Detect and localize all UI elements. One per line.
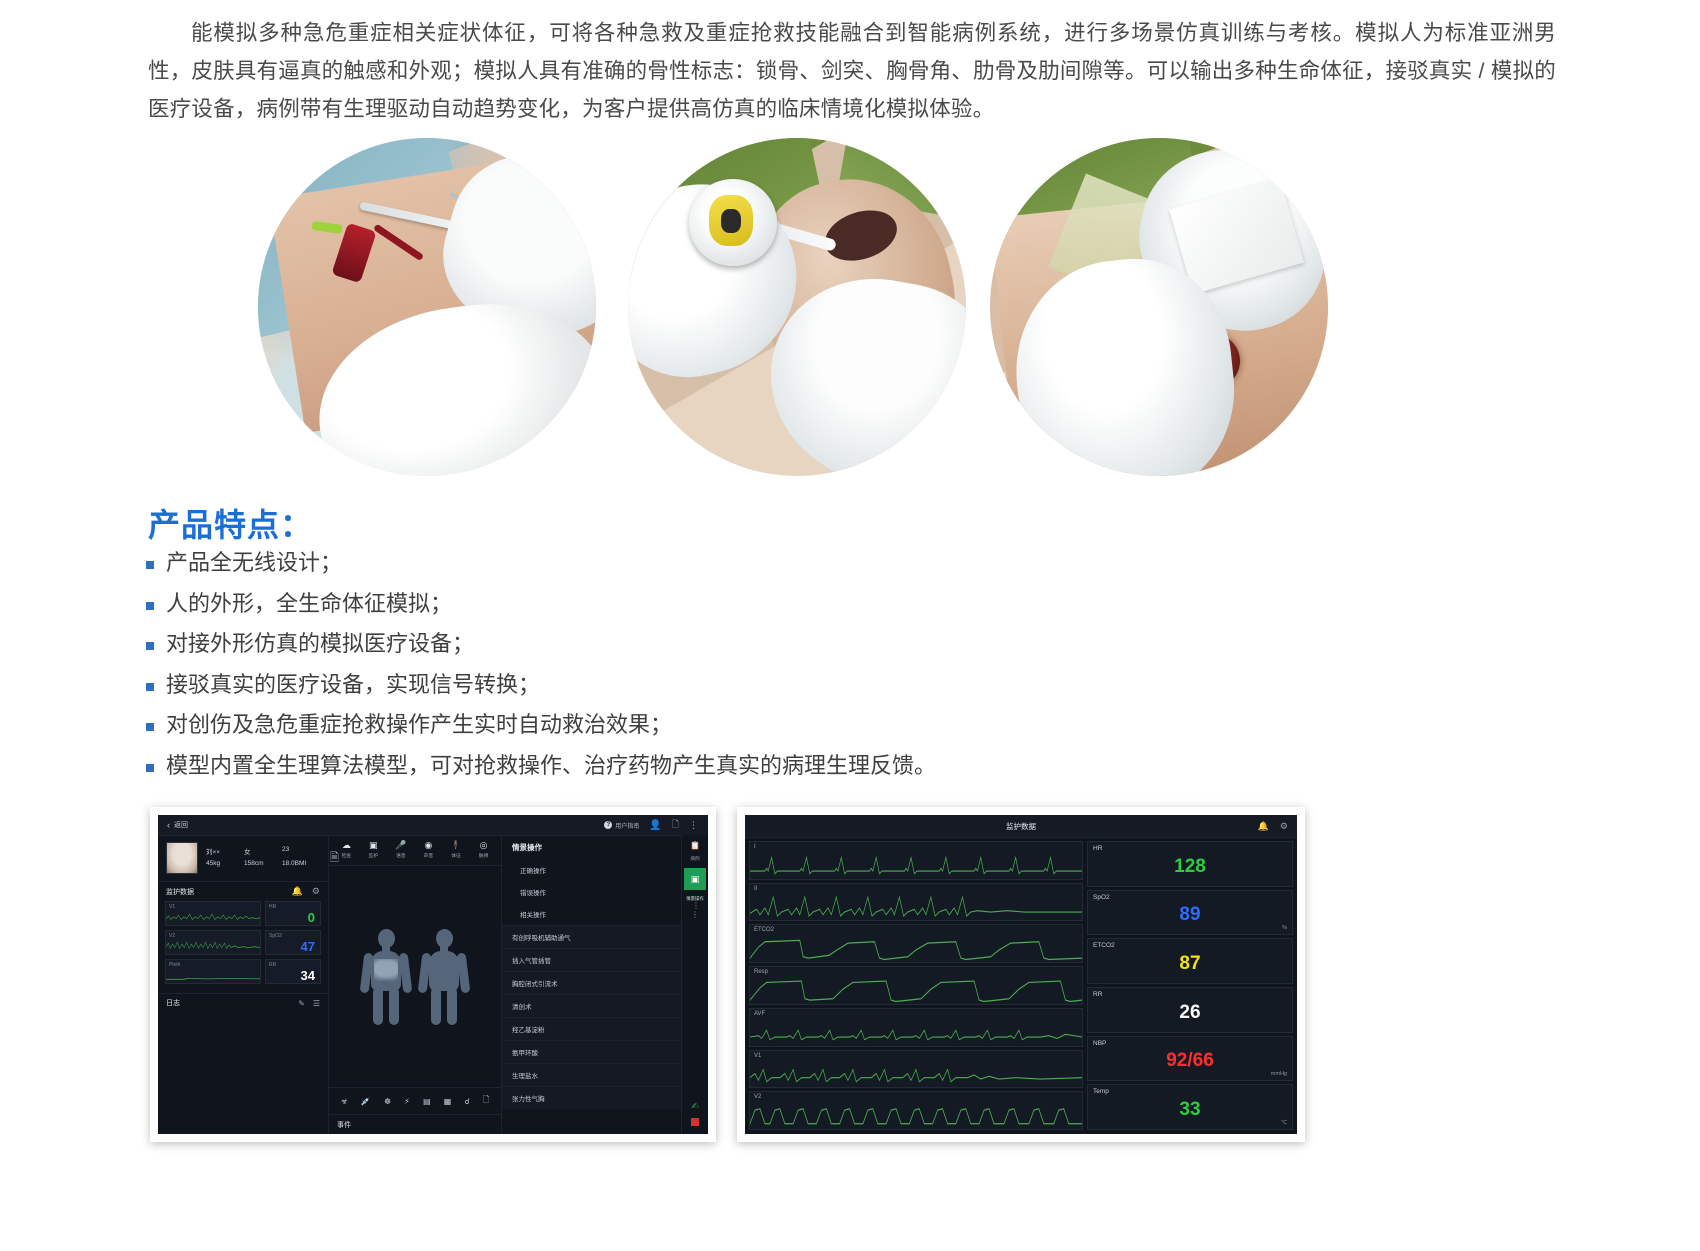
file-icon[interactable]: 🗋: [483, 1094, 489, 1108]
waveform-v2: V2: [165, 930, 261, 955]
patient-weight: 45kg: [206, 860, 244, 867]
body-figure-back[interactable]: [421, 929, 467, 1025]
mask-icon[interactable]: ☸: [384, 1097, 391, 1106]
list-item[interactable]: 羟乙基淀粉: [502, 1017, 681, 1040]
list-item[interactable]: 生理盐水: [502, 1063, 681, 1086]
features-heading: 产品特点：: [148, 500, 313, 546]
value-number: 26: [1088, 1003, 1292, 1022]
scene-operation-button[interactable]: ▣: [684, 868, 706, 890]
edit-square-icon[interactable]: ✍: [691, 1101, 699, 1112]
tool-label: 声音: [424, 852, 434, 859]
events-panel-header: 事件: [329, 1114, 501, 1134]
value-number: 47: [301, 940, 315, 953]
tool-label: 监护: [368, 852, 378, 859]
feature-text: 对接外形仿真的模拟医疗设备；: [166, 631, 474, 656]
value-label: ETCO2: [1093, 942, 1115, 949]
filter-icon[interactable]: ☰: [313, 999, 320, 1008]
waveform-v2: V2: [749, 1091, 1083, 1130]
feature-text: 对创伤及急危重症抢救操作产生实时自动救治效果；: [166, 712, 672, 737]
user-guide-button[interactable]: ? 用户指南: [604, 821, 639, 830]
more-vertical-icon[interactable]: ⋮: [691, 910, 699, 919]
person-icon[interactable]: 👤: [649, 820, 661, 831]
vitals-icon: 🕴: [450, 841, 461, 850]
value-number: 87: [1088, 954, 1292, 973]
user-guide-label: 用户指南: [615, 821, 639, 830]
bullet-square-icon: [146, 642, 154, 650]
bullet-square-icon: [146, 764, 154, 772]
check-exam-icon: ☁: [342, 841, 351, 850]
tool-pulse[interactable]: ◎ 脉搏: [479, 841, 489, 859]
drug-icon[interactable]: ☣: [341, 1097, 348, 1106]
stop-square-icon[interactable]: [691, 1118, 699, 1126]
bullet-square-icon: [146, 723, 154, 731]
log-panel-title: 日志: [166, 998, 180, 1008]
scene-icon: ▣: [691, 874, 700, 885]
tool-sound[interactable]: ◉ 声音: [424, 841, 434, 859]
list-item: 人的外形，全生命体征模拟；: [146, 591, 1346, 616]
laryngeal-mask-center: [721, 209, 741, 233]
value-unit: mmHg: [1271, 1071, 1287, 1077]
waveform-etco2: ETCO2: [749, 924, 1083, 963]
photo-chest-tube-wound-care: [990, 138, 1328, 476]
list-item: 对接外形仿真的模拟医疗设备；: [146, 631, 1346, 656]
edit-icon[interactable]: ✎: [298, 999, 305, 1008]
syringe-icon[interactable]: 💉: [361, 1097, 371, 1106]
intro-paragraph: 能模拟多种急危重症相关症状体征，可将各种急救及重症抢救技能融合到智能病例系统，进…: [148, 14, 1556, 128]
feature-text: 模型内置全生理算法模型，可对抢救操作、治疗药物产生真实的病理生理反馈。: [166, 753, 936, 778]
waveform-label: ETCO2: [754, 927, 774, 933]
bullet-square-icon: [146, 602, 154, 610]
list-item: 对创伤及急危重症抢救操作产生实时自动救治效果；: [146, 712, 1346, 737]
value-hr: HR 128: [1087, 841, 1293, 887]
value-label: HR: [1093, 845, 1102, 852]
bell-off-icon[interactable]: 🔔: [292, 886, 303, 897]
tool-vitals[interactable]: 🕴 体征: [450, 841, 461, 859]
avatar: [166, 842, 198, 874]
software-screenshot-simulation-console: ‹ 返回 ? 用户指南 👤 🗋 ⋮ 刘×× 女 23: [150, 807, 716, 1142]
waveform-label: V1: [754, 1053, 761, 1059]
operations-related[interactable]: 相关操作: [502, 903, 681, 925]
case-icon[interactable]: 📋: [690, 841, 700, 850]
waveform-v1: V1: [165, 901, 261, 926]
waveform-column: I II ETCO2 Resp: [749, 841, 1083, 1130]
value-unit: ℃: [1281, 1120, 1287, 1126]
document-icon[interactable]: 🗋: [672, 817, 679, 833]
pulse-icon: ◎: [480, 841, 488, 850]
events-panel-title: 事件: [337, 1120, 351, 1130]
operations-correct[interactable]: 正确操作: [502, 859, 681, 881]
waveform-label: I: [754, 844, 756, 850]
list-item: 产品全无线设计；: [146, 550, 1346, 575]
value-label: RR: [1093, 991, 1102, 998]
values-column: HR 128 SpO2 89 % ETCO2 87 RR 26 NBP 9: [1087, 841, 1293, 1130]
operations-title: 情景操作: [502, 835, 681, 859]
waveform-label: Resp: [754, 969, 768, 975]
photo-central-line-insertion: [258, 138, 596, 476]
value-nbp: NBP 92/66 mmHg: [1087, 1036, 1293, 1082]
sound-icon: ◉: [424, 841, 432, 850]
list-item: 接驳真实的医疗设备，实现信号转换；: [146, 672, 1346, 697]
app-topbar: ‹ 返回 ? 用户指南 👤 🗋 ⋮: [158, 815, 708, 836]
operations-column: 情景操作 正确操作 错误操作 相关操作 有创呼吸机辅助通气 插入气管插管 胸腔闭…: [502, 835, 681, 1134]
monitor-row: Pleth RR 34: [165, 959, 321, 984]
list-item[interactable]: 氨甲环酸: [502, 1040, 681, 1063]
monitor-wave-grid: V1 HR 0 V2: [158, 901, 328, 984]
value-label: NBP: [1093, 1040, 1106, 1047]
monitor-panel-title: 监护数据: [166, 887, 194, 897]
intervention-tool-row: ☣ 💉 ☸ ⚡ ▤ ▦ ☌ 🗋: [329, 1087, 501, 1114]
tool-monitor[interactable]: ▣ 监护: [368, 841, 378, 859]
patient-name: 刘××: [206, 846, 244, 856]
value-number: 92/66: [1088, 1051, 1292, 1070]
stethoscope-icon[interactable]: ☌: [464, 1097, 469, 1106]
value-unit: %: [1282, 925, 1287, 931]
photo-airway-laryngeal-mask: [628, 138, 966, 476]
feature-text: 人的外形，全生命体征模拟；: [166, 591, 452, 616]
gear-icon[interactable]: ⚙: [1280, 821, 1288, 832]
patient-bmi: 18.0BMI: [282, 860, 328, 867]
value-rr: RR 26: [1087, 987, 1293, 1033]
question-circle-icon: ?: [604, 821, 612, 829]
bullet-square-icon: [146, 683, 154, 691]
back-button[interactable]: ‹ 返回: [167, 820, 188, 830]
tool-label: 检查: [342, 852, 352, 859]
defib-icon[interactable]: ⚡: [404, 1097, 410, 1106]
value-number: 89: [1088, 905, 1292, 924]
tool-label: 体征: [451, 852, 461, 859]
bell-off-icon[interactable]: 🔔: [1258, 821, 1269, 832]
value-hr: HR 0: [265, 901, 321, 926]
value-spo2: SpO2 89 %: [1087, 890, 1293, 936]
more-vertical-icon[interactable]: ⋮: [692, 901, 700, 910]
value-number: 33: [1088, 1100, 1292, 1119]
lungs-overlay-icon: [374, 959, 398, 983]
voice-icon: 🎤: [395, 841, 406, 850]
waveform-label: AVF: [754, 1011, 765, 1017]
waveform-label: V2: [754, 1094, 761, 1100]
left-column: 刘×× 女 23 45kg 158cm 18.0BMI 🗎 监护数据 🔔: [158, 835, 329, 1134]
feature-text: 产品全无线设计；: [166, 550, 342, 575]
waveform-label: II: [754, 886, 757, 892]
photo-row: [0, 138, 1700, 488]
value-label: SpO2: [269, 933, 282, 939]
body-figure-front[interactable]: [363, 929, 409, 1025]
value-label: SpO2: [1093, 894, 1110, 901]
list-item[interactable]: 有创呼吸机辅助通气: [502, 925, 681, 948]
value-label: HR: [269, 904, 276, 910]
waveform-avf: AVF: [749, 1008, 1083, 1047]
list-item[interactable]: 插入气管插管: [502, 948, 681, 971]
tool-icon-row: ☁ 检查 ▣ 监护 🎤 语音 ◉ 声音 🕴 体征: [329, 835, 501, 866]
features-list: 产品全无线设计； 人的外形，全生命体征模拟； 对接外形仿真的模拟医疗设备； 接驳…: [146, 550, 1346, 793]
patient-sex: 女: [244, 846, 282, 856]
tool-label: 脉搏: [479, 852, 489, 859]
value-number: 34: [301, 969, 315, 982]
middle-column: ☁ 检查 ▣ 监护 🎤 语音 ◉ 声音 🕴 体征: [329, 835, 502, 1134]
chevron-left-icon: ‹: [167, 820, 170, 830]
value-number: 128: [1088, 857, 1292, 876]
list-item[interactable]: 胸腔闭式引流术: [502, 971, 681, 994]
bullet-square-icon: [146, 561, 154, 569]
monitor-topbar: 监护数据 🔔 ⚙: [745, 815, 1297, 838]
right-rail: 📋 病例 ▣ 情景操作 ⋮ ✍: [681, 835, 708, 1134]
patient-info-card[interactable]: 刘×× 女 23 45kg 158cm 18.0BMI 🗎: [158, 835, 328, 882]
tool-check-exam[interactable]: ☁ 检查: [342, 841, 352, 859]
pad-icon[interactable]: ▤: [423, 1097, 431, 1106]
topbar-actions: ? 用户指南 👤 🗋 ⋮: [604, 817, 699, 833]
operations-wrong[interactable]: 错误操作: [502, 881, 681, 903]
value-label: RR: [269, 962, 276, 968]
list-item[interactable]: 张力性气胸: [502, 1086, 681, 1109]
tool-label: 语音: [396, 852, 406, 859]
manikin-body-diagram[interactable]: [329, 866, 501, 1087]
value-number: 0: [308, 911, 315, 924]
more-vertical-icon[interactable]: ⋮: [689, 820, 699, 831]
monitor-title: 监护数据: [1006, 821, 1036, 832]
value-rr: RR 34: [265, 959, 321, 984]
waveform-resp: Resp: [749, 966, 1083, 1005]
monitor-icon: ▣: [369, 841, 378, 850]
waveform-lead-i: I: [749, 841, 1083, 880]
waveform-v1: V1: [749, 1050, 1083, 1089]
patient-height: 158cm: [244, 860, 282, 867]
list-item[interactable]: 清创术: [502, 994, 681, 1017]
gear-icon[interactable]: ⚙: [312, 886, 320, 897]
waveform-pleth: Pleth: [165, 959, 261, 984]
patient-fields: 刘×× 女 23 45kg 158cm 18.0BMI: [206, 846, 328, 871]
app-body: 刘×× 女 23 45kg 158cm 18.0BMI 🗎 监护数据 🔔: [158, 835, 708, 1134]
tool-voice[interactable]: 🎤 语音: [395, 841, 406, 859]
monitor-row: V1 HR 0: [165, 901, 321, 926]
patient-age: 23: [282, 846, 322, 856]
value-spo2: SpO2 47: [265, 930, 321, 955]
case-label: 病例: [690, 856, 699, 862]
back-label: 返回: [174, 820, 188, 830]
monitor-panel-header: 监护数据 🔔 ⚙: [158, 882, 328, 901]
value-label: Temp: [1093, 1088, 1109, 1095]
feature-text: 接驳真实的医疗设备，实现信号转换；: [166, 672, 540, 697]
monitor-body: I II ETCO2 Resp: [745, 837, 1297, 1134]
list-item: 模型内置全生理算法模型，可对抢救操作、治疗药物产生真实的病理生理反馈。: [146, 753, 1346, 778]
log-panel-header: 日志 ✎ ☰: [158, 993, 328, 1012]
value-temp: Temp 33 ℃: [1087, 1084, 1293, 1130]
monitor-row: V2 SpO2 47: [165, 930, 321, 955]
waveform-lead-ii: II: [749, 883, 1083, 922]
bandage-icon[interactable]: ▦: [444, 1097, 452, 1106]
value-etco2: ETCO2 87: [1087, 938, 1293, 984]
software-screenshot-patient-monitor: 监护数据 🔔 ⚙ I II ETCO2: [737, 807, 1305, 1142]
